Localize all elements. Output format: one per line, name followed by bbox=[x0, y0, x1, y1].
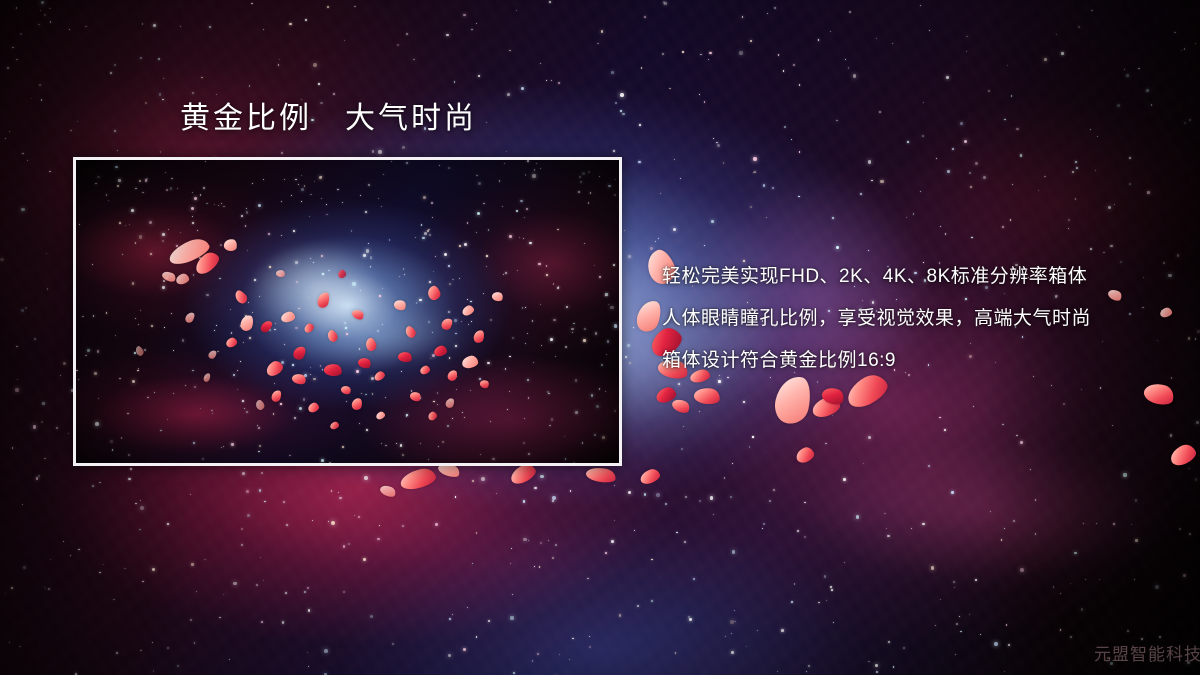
media-panel-frame bbox=[73, 157, 622, 466]
body-line-1: 轻松完美实现FHD、2K、4K、8K标准分辨率箱体 bbox=[662, 256, 1182, 298]
body-line-2: 人体眼睛瞳孔比例，享受视觉效果，高端大气时尚 bbox=[662, 298, 1182, 340]
slide-canvas: 黄金比例 大气时尚 轻松完美实现FHD、2K、4K、8K标准分辨率箱体 人体眼睛… bbox=[0, 0, 1200, 675]
panel-vignette bbox=[76, 160, 619, 463]
watermark-text: 元盟智能科技 bbox=[1094, 640, 1200, 665]
slide-heading: 黄金比例 大气时尚 bbox=[180, 100, 477, 138]
body-line-3: 箱体设计符合黄金比例16:9 bbox=[662, 340, 1182, 382]
body-text-block: 轻松完美实现FHD、2K、4K、8K标准分辨率箱体 人体眼睛瞳孔比例，享受视觉效… bbox=[662, 256, 1182, 382]
